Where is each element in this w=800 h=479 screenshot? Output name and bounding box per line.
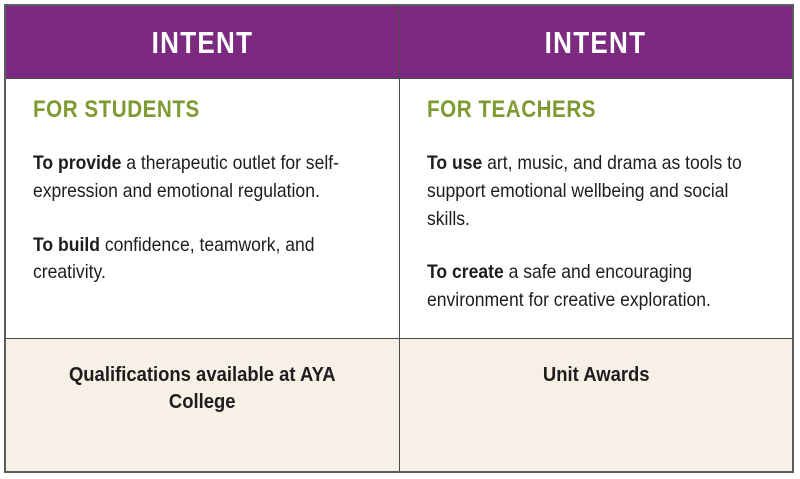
footer-cell-students: Qualifications available at AYA College [5,339,399,473]
header-cell-teachers: INTENT [399,5,793,79]
table-footer-row: Qualifications available at AYA College … [5,339,793,473]
paragraph-lead: To create [427,261,504,283]
header-cell-students: INTENT [5,5,399,79]
subheading-for-students: FOR STUDENTS [33,97,328,122]
paragraph-lead: To provide [33,152,121,174]
paragraph-lead: To build [33,234,100,256]
paragraph-students-1: To provide a therapeutic outlet for self… [33,150,376,205]
subheading-for-teachers: FOR TEACHERS [427,97,722,122]
paragraph-students-2: To build confidence, teamwork, and creat… [33,232,376,287]
paragraph-lead: To use [427,152,482,174]
intent-comparison-table: INTENT INTENT FOR STUDENTS To provide a … [4,4,794,473]
table-header-row: INTENT INTENT [5,5,793,79]
body-cell-teachers: FOR TEACHERS To use art, music, and dram… [399,79,793,339]
footer-text-qualifications: Qualifications available at AYA College [49,361,355,416]
footer-text-unit-awards: Unit Awards [542,361,649,388]
paragraph-teachers-1: To use art, music, and drama as tools to… [427,150,770,233]
header-title-left: INTENT [151,27,253,58]
header-title-right: INTENT [545,27,647,58]
table-body-row: FOR STUDENTS To provide a therapeutic ou… [5,79,793,339]
intent-table-container: INTENT INTENT FOR STUDENTS To provide a … [0,0,800,479]
footer-cell-teachers: Unit Awards [399,339,793,473]
body-cell-students: FOR STUDENTS To provide a therapeutic ou… [5,79,399,339]
paragraph-teachers-2: To create a safe and encouraging environ… [427,259,770,314]
